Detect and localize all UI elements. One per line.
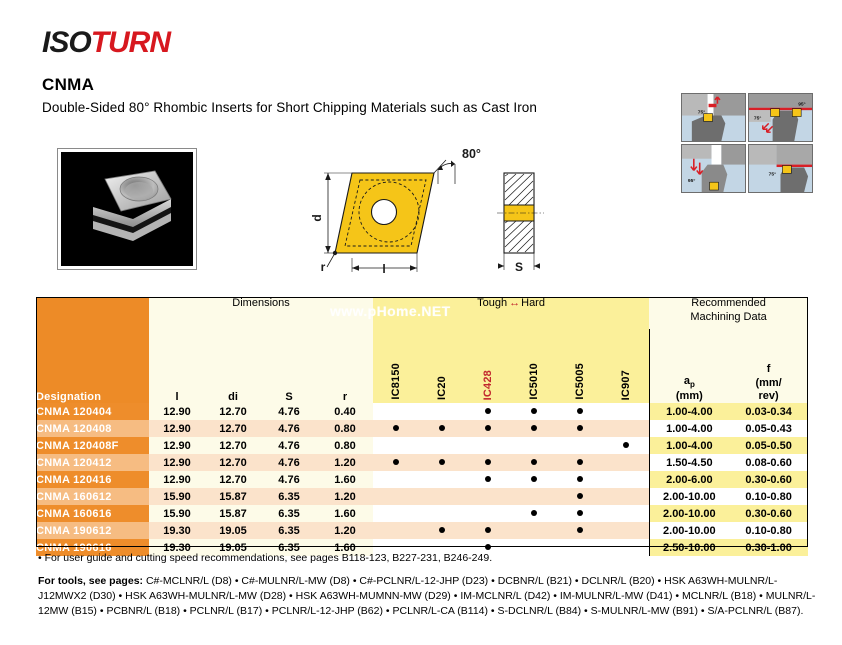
- cell-designation: CNMA 120408F: [36, 437, 149, 454]
- cell-grade-ic5005: [557, 403, 603, 420]
- header-ap-unit: (mm): [650, 390, 730, 403]
- table-row: CNMA 12041612.9012.704.761.602.00-6.000.…: [36, 471, 808, 488]
- grade-availability-dot-icon: [531, 476, 537, 482]
- toolholder-diagram-2: 95° 75°: [748, 93, 813, 142]
- brand-logo-iso: ISO: [42, 26, 91, 59]
- grade-availability-dot-icon: [485, 544, 491, 550]
- cell-dimension-S: 4.76: [261, 454, 317, 471]
- cell-grade-ic907: [603, 471, 649, 488]
- product-photo: [61, 152, 193, 266]
- cell-grade-ic428: [465, 420, 511, 437]
- grade-availability-dot-icon: [577, 510, 583, 516]
- cell-dimension-di: 12.70: [205, 471, 261, 488]
- header-dim-r: r: [317, 329, 373, 403]
- header-grade-ic5010: IC5010: [511, 329, 557, 403]
- header-grade-ic428: IC428: [465, 329, 511, 403]
- footnote-tools: For tools, see pages: C#-MCLNR/L (D8) • …: [38, 574, 820, 619]
- cell-grade-ic428: [465, 454, 511, 471]
- cell-ap: 2.00-10.00: [649, 505, 729, 522]
- cell-grade-ic8150: [373, 522, 419, 539]
- grade-availability-dot-icon: [485, 459, 491, 465]
- cell-ap: 2.00-10.00: [649, 488, 729, 505]
- cell-grade-ic907: [603, 505, 649, 522]
- header-designation: Designation: [36, 297, 149, 403]
- cell-dimension-di: 12.70: [205, 420, 261, 437]
- cell-dimension-S: 6.35: [261, 488, 317, 505]
- header-recommended-line2: Machining Data: [649, 311, 808, 325]
- cell-grade-ic5005: [557, 505, 603, 522]
- header-dim-l: l: [149, 329, 205, 403]
- header-f-unit2: rev): [729, 390, 808, 403]
- grade-availability-dot-icon: [577, 527, 583, 533]
- header-grade-ic8150: IC8150: [373, 329, 419, 403]
- cell-grade-ic907: [603, 403, 649, 420]
- cell-grade-ic5005: [557, 454, 603, 471]
- footnote-tools-label: For tools, see pages:: [38, 575, 143, 587]
- cell-dimension-S: 4.76: [261, 420, 317, 437]
- cell-dimension-r: 1.60: [317, 471, 373, 488]
- cell-f: 0.30-0.60: [729, 505, 808, 522]
- table-row: CNMA 19061219.3019.056.351.202.00-10.000…: [36, 522, 808, 539]
- cell-dimension-l: 12.90: [149, 454, 205, 471]
- cell-grade-ic8150: [373, 471, 419, 488]
- cell-designation: CNMA 120404: [36, 403, 149, 420]
- cell-grade-ic8150: [373, 437, 419, 454]
- grade-availability-dot-icon: [531, 510, 537, 516]
- cell-designation: CNMA 160616: [36, 505, 149, 522]
- cell-ap: 1.00-4.00: [649, 437, 729, 454]
- grade-availability-dot-icon: [577, 408, 583, 414]
- cell-grade-ic20: [419, 488, 465, 505]
- cell-dimension-S: 4.76: [261, 471, 317, 488]
- page-subtitle: Double-Sided 80° Rhombic Inserts for Sho…: [42, 100, 537, 115]
- header-f-unit1: (mm/: [729, 377, 808, 390]
- footnote-tools-list: C#-MCLNR/L (D8) • C#-MULNR/L-MW (D8) • C…: [38, 575, 815, 617]
- svg-text:95°: 95°: [688, 178, 695, 184]
- table-row: CNMA 16061615.9015.876.351.602.00-10.000…: [36, 505, 808, 522]
- svg-text:75°: 75°: [769, 171, 776, 177]
- footnote-pages: • For user guide and cutting speed recom…: [38, 551, 820, 566]
- insert-dimension-diagram: d l r 80°: [312, 140, 562, 290]
- grade-availability-dot-icon: [439, 527, 445, 533]
- technical-drawing: d l r 80°: [312, 140, 562, 290]
- cell-grade-ic8150: [373, 403, 419, 420]
- grade-availability-dot-icon: [577, 493, 583, 499]
- cell-grade-ic428: [465, 471, 511, 488]
- grade-availability-dot-icon: [577, 476, 583, 482]
- grade-availability-dot-icon: [393, 425, 399, 431]
- product-photo-frame: [57, 148, 197, 270]
- header-grade-ic20: IC20: [419, 329, 465, 403]
- tough-hard-arrow-icon: ↔: [507, 297, 521, 309]
- dimension-label-s: S: [515, 260, 523, 274]
- header-dim-di: di: [205, 329, 261, 403]
- header-recommended-line1: Recommended: [649, 297, 808, 311]
- cell-f: 0.08-0.60: [729, 454, 808, 471]
- toolholder-diagram-1: 75°: [681, 93, 746, 142]
- cell-ap: 1.00-4.00: [649, 403, 729, 420]
- cell-dimension-S: 4.76: [261, 403, 317, 420]
- table-row: CNMA 12040412.9012.704.760.401.00-4.000.…: [36, 403, 808, 420]
- cell-dimension-r: 0.80: [317, 437, 373, 454]
- cell-grade-ic20: [419, 454, 465, 471]
- header-f: f (mm/ rev): [729, 329, 808, 403]
- cell-ap: 1.00-4.00: [649, 420, 729, 437]
- cell-grade-ic5005: [557, 437, 603, 454]
- cell-grade-ic5005: [557, 522, 603, 539]
- header-hard: Hard: [521, 297, 545, 309]
- cell-grade-ic5010: [511, 522, 557, 539]
- table-row: CNMA 12041212.9012.704.761.201.50-4.500.…: [36, 454, 808, 471]
- cell-dimension-S: 6.35: [261, 522, 317, 539]
- cell-grade-ic5010: [511, 454, 557, 471]
- cell-dimension-di: 15.87: [205, 488, 261, 505]
- brand-logo-turn: TURN: [91, 26, 170, 59]
- cell-grade-ic907: [603, 437, 649, 454]
- table-row: CNMA 12040812.9012.704.760.801.00-4.000.…: [36, 420, 808, 437]
- cell-grade-ic907: [603, 454, 649, 471]
- cell-dimension-S: 6.35: [261, 505, 317, 522]
- cell-grade-ic8150: [373, 505, 419, 522]
- cell-dimension-r: 1.20: [317, 522, 373, 539]
- toolholder-diagram-3: 95°: [681, 144, 746, 193]
- cell-dimension-l: 19.30: [149, 522, 205, 539]
- grade-availability-dot-icon: [531, 408, 537, 414]
- cell-dimension-di: 12.70: [205, 454, 261, 471]
- cell-grade-ic907: [603, 488, 649, 505]
- cell-f: 0.30-0.60: [729, 471, 808, 488]
- cell-dimension-r: 0.40: [317, 403, 373, 420]
- cell-dimension-l: 12.90: [149, 403, 205, 420]
- cell-grade-ic20: [419, 471, 465, 488]
- cell-grade-ic20: [419, 437, 465, 454]
- cell-dimension-r: 1.20: [317, 454, 373, 471]
- table-row: CNMA 16061215.9015.876.351.202.00-10.000…: [36, 488, 808, 505]
- svg-text:75°: 75°: [698, 110, 705, 116]
- cell-grade-ic8150: [373, 454, 419, 471]
- grade-availability-dot-icon: [485, 408, 491, 414]
- cell-ap: 1.50-4.50: [649, 454, 729, 471]
- cell-grade-ic5010: [511, 437, 557, 454]
- cell-dimension-l: 15.90: [149, 505, 205, 522]
- cell-grade-ic5010: [511, 488, 557, 505]
- cell-designation: CNMA 160612: [36, 488, 149, 505]
- cell-f: 0.03-0.34: [729, 403, 808, 420]
- cell-dimension-l: 12.90: [149, 437, 205, 454]
- cell-grade-ic428: [465, 403, 511, 420]
- cell-grade-ic20: [419, 403, 465, 420]
- cell-dimension-r: 0.80: [317, 420, 373, 437]
- cell-designation: CNMA 190612: [36, 522, 149, 539]
- grade-availability-dot-icon: [623, 442, 629, 448]
- svg-text:95°: 95°: [798, 102, 805, 108]
- header-recommended-machining-data: Recommended Machining Data: [649, 297, 808, 329]
- dimension-label-d: d: [312, 214, 324, 221]
- dimension-label-r: r: [321, 260, 326, 274]
- table-header: Designation Dimensions Tough↔Hard Recomm…: [36, 297, 808, 403]
- grade-availability-dot-icon: [485, 425, 491, 431]
- cell-ap: 2.00-10.00: [649, 522, 729, 539]
- cell-grade-ic5010: [511, 403, 557, 420]
- cell-dimension-r: 1.20: [317, 488, 373, 505]
- grade-availability-dot-icon: [531, 459, 537, 465]
- header-dim-s: S: [261, 329, 317, 403]
- cell-grade-ic8150: [373, 488, 419, 505]
- dimension-label-angle: 80°: [462, 147, 481, 161]
- cell-dimension-l: 15.90: [149, 488, 205, 505]
- cell-grade-ic428: [465, 522, 511, 539]
- grade-availability-dot-icon: [531, 425, 537, 431]
- side-section-view: S: [497, 173, 544, 274]
- cell-dimension-di: 15.87: [205, 505, 261, 522]
- grade-availability-dot-icon: [485, 527, 491, 533]
- cell-grade-ic20: [419, 420, 465, 437]
- cell-designation: CNMA 120412: [36, 454, 149, 471]
- cell-grade-ic5005: [557, 488, 603, 505]
- header-ap-subscript: p: [690, 380, 695, 389]
- cell-f: 0.05-0.43: [729, 420, 808, 437]
- cell-f: 0.05-0.50: [729, 437, 808, 454]
- grade-availability-dot-icon: [577, 425, 583, 431]
- toolholder-diagram-4: 75°: [748, 144, 813, 193]
- grade-availability-dot-icon: [485, 476, 491, 482]
- toolholder-application-diagrams: 75° 95° 75° 95°: [681, 93, 813, 193]
- cell-dimension-di: 19.05: [205, 522, 261, 539]
- header-ap: ap (mm): [649, 329, 729, 403]
- cell-grade-ic20: [419, 505, 465, 522]
- grade-availability-dot-icon: [393, 459, 399, 465]
- cell-ap: 2.00-6.00: [649, 471, 729, 488]
- page-title: CNMA: [42, 75, 537, 95]
- cell-grade-ic907: [603, 522, 649, 539]
- cell-dimension-di: 12.70: [205, 403, 261, 420]
- cell-dimension-S: 4.76: [261, 437, 317, 454]
- cell-dimension-r: 1.60: [317, 505, 373, 522]
- grade-availability-dot-icon: [439, 425, 445, 431]
- header-dimensions: Dimensions: [149, 297, 373, 329]
- cell-grade-ic8150: [373, 420, 419, 437]
- svg-text:75°: 75°: [754, 115, 761, 121]
- brand-logo: ISOTURN: [42, 28, 170, 58]
- cell-grade-ic20: [419, 522, 465, 539]
- header-tough-hard: Tough↔Hard: [373, 297, 649, 329]
- cell-grade-ic428: [465, 505, 511, 522]
- cell-grade-ic5010: [511, 471, 557, 488]
- header-grade-ic5005: IC5005: [557, 329, 603, 403]
- cell-grade-ic428: [465, 488, 511, 505]
- cell-dimension-l: 12.90: [149, 471, 205, 488]
- title-block: CNMA Double-Sided 80° Rhombic Inserts fo…: [42, 75, 537, 115]
- grade-availability-dot-icon: [577, 459, 583, 465]
- grade-availability-dot-icon: [439, 459, 445, 465]
- cell-f: 0.10-0.80: [729, 488, 808, 505]
- header-f-symbol: f: [729, 363, 808, 376]
- cell-grade-ic5010: [511, 505, 557, 522]
- header-grade-ic907: IC907: [603, 329, 649, 403]
- footnotes: • For user guide and cutting speed recom…: [38, 551, 820, 619]
- cell-grade-ic428: [465, 437, 511, 454]
- header-tough: Tough: [477, 297, 507, 309]
- table-body: CNMA 12040412.9012.704.760.401.00-4.000.…: [36, 403, 808, 556]
- cell-designation: CNMA 120408: [36, 420, 149, 437]
- table-row: CNMA 120408F12.9012.704.760.801.00-4.000…: [36, 437, 808, 454]
- cell-grade-ic907: [603, 420, 649, 437]
- cell-f: 0.10-0.80: [729, 522, 808, 539]
- cell-grade-ic5005: [557, 420, 603, 437]
- cell-designation: CNMA 120416: [36, 471, 149, 488]
- specification-table: Designation Dimensions Tough↔Hard Recomm…: [36, 297, 808, 556]
- cell-grade-ic5005: [557, 471, 603, 488]
- dimension-label-l: l: [382, 262, 385, 276]
- cell-grade-ic5010: [511, 420, 557, 437]
- insert-photo-illustration: [71, 161, 183, 257]
- cell-dimension-l: 12.90: [149, 420, 205, 437]
- cell-dimension-di: 12.70: [205, 437, 261, 454]
